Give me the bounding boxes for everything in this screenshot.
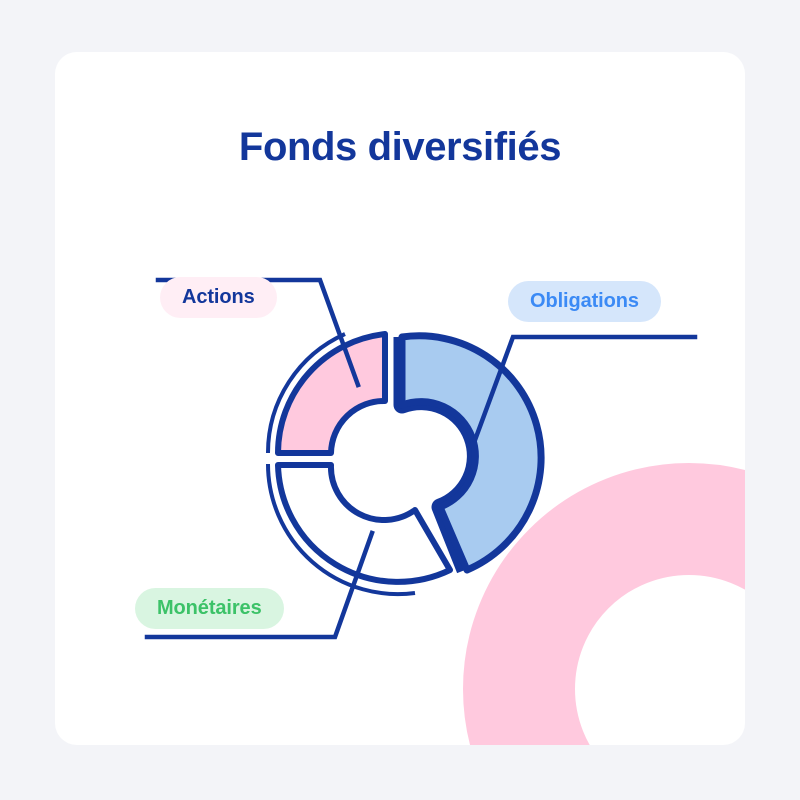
slice-monetaires-shape[interactable] <box>278 465 450 582</box>
donut-chart-diagram <box>55 52 745 745</box>
label-pill-obligations-text: Obligations <box>530 290 639 313</box>
content-card: Fonds diversifiés <box>55 52 745 745</box>
label-pill-actions-text: Actions <box>182 286 255 309</box>
screenshot-root: Fonds diversifiés <box>0 0 800 800</box>
slice-actions[interactable] <box>278 334 385 453</box>
label-pill-obligations[interactable]: Obligations <box>508 281 661 322</box>
label-pill-monetaires-text: Monétaires <box>157 597 262 620</box>
slice-actions-shape[interactable] <box>278 334 385 453</box>
slice-monetaires[interactable] <box>278 465 450 582</box>
label-pill-actions[interactable]: Actions <box>160 277 277 318</box>
label-pill-monetaires[interactable]: Monétaires <box>135 588 284 629</box>
